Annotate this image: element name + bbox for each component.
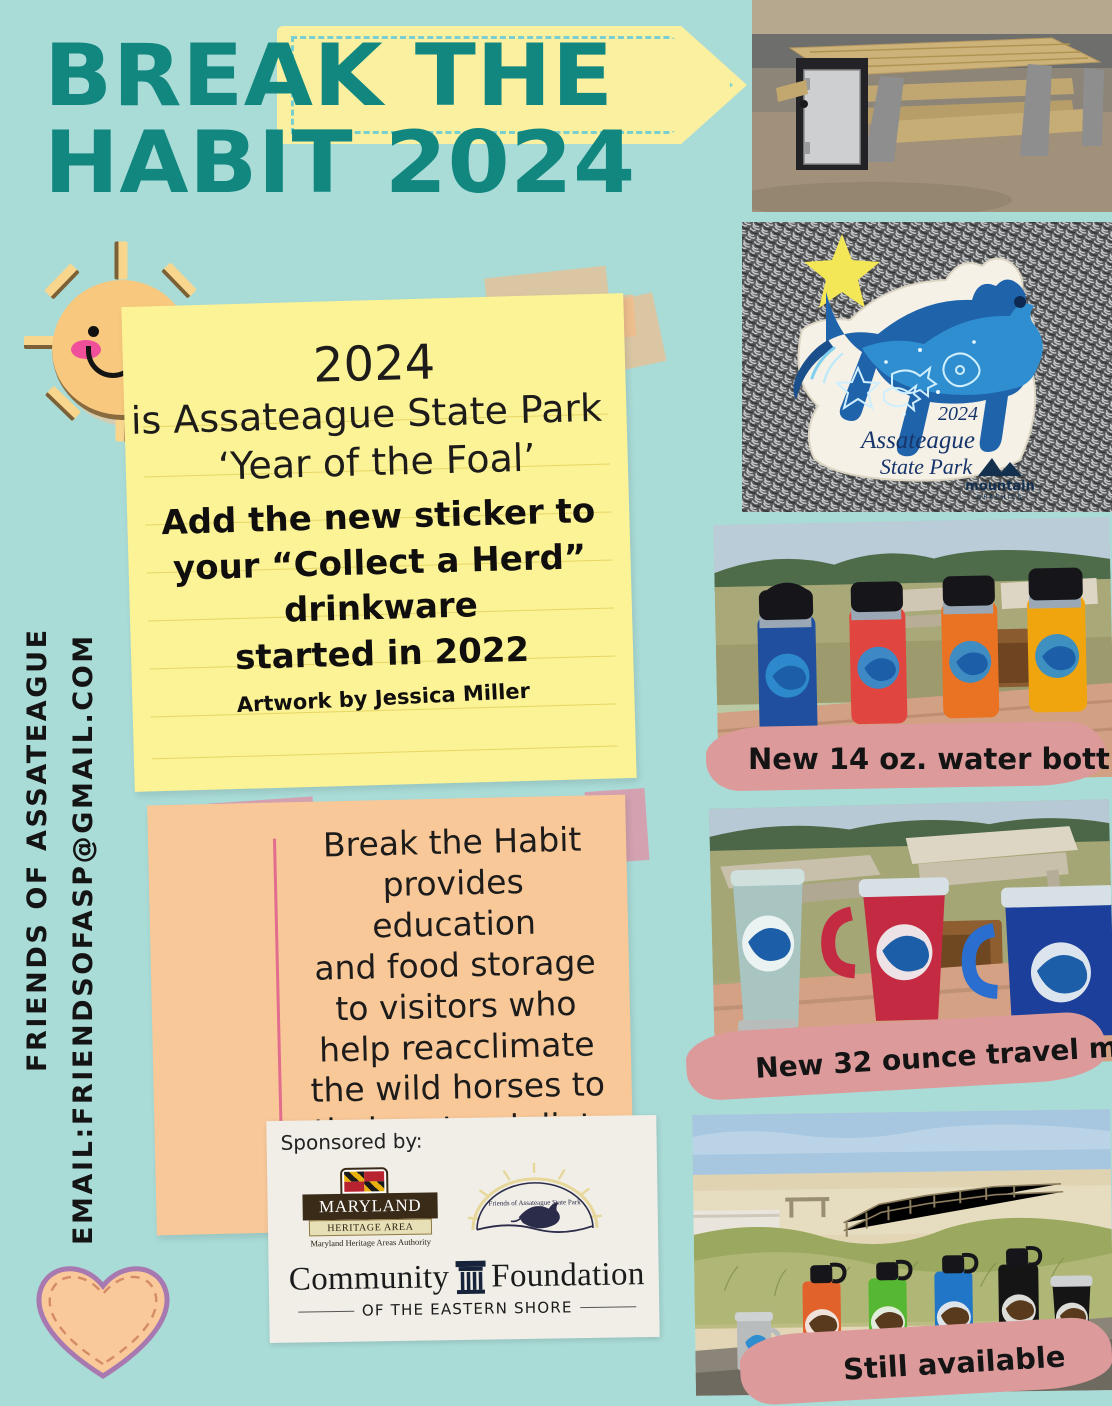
md-logo-sub: Maryland Heritage Areas Authority — [303, 1236, 438, 1248]
title-line-2: HABIT 2024 — [44, 121, 772, 206]
foal-sticker-photo: 2024 Assateague State Park mountain GRAP… — [742, 222, 1112, 512]
community-foundation-logo: Community Foundation OF THE EASTERN SHOR… — [286, 1255, 647, 1333]
sponsor-card: Sponsored by: MARYLAND HERITAGE AREA Mar… — [266, 1115, 659, 1343]
sticker-line-2: State Park — [880, 454, 973, 479]
orange-note-line: provides education — [299, 860, 609, 949]
poster-canvas: BREAK THE HABIT 2024 20 — [0, 0, 1112, 1393]
caption-water-bottles: New 14 oz. water bottles — [748, 742, 1112, 776]
yellow-note-content: 2024 is Assateague State Park ‘Year of t… — [121, 289, 636, 793]
picnic-table-food-storage-photo — [752, 0, 1112, 212]
email-side-text[interactable]: EMAIL:FRIENDSOFASP@GMAIL.COM — [68, 633, 99, 1245]
orange-note-line: to visitors who — [301, 983, 610, 1031]
maryland-heritage-area-logo: MARYLAND HERITAGE AREA Maryland Heritage… — [302, 1166, 438, 1248]
cf-word-1: Community — [289, 1259, 450, 1299]
sticker-line-1: Assateague — [859, 427, 975, 454]
md-logo-title: MARYLAND — [319, 1196, 421, 1218]
organization-side-text: FRIENDS OF ASSATEAGUE — [22, 627, 53, 1072]
orange-note-line: help reacclimate — [302, 1024, 611, 1072]
heart-icon — [28, 1258, 178, 1383]
cf-sub-text: OF THE EASTERN SHORE — [362, 1298, 573, 1319]
orange-note-line: the wild horses to — [303, 1064, 612, 1112]
friends-of-assateague-logo: Friends of Assateague State Park — [462, 1162, 608, 1246]
md-logo-band: HERITAGE AREA — [327, 1221, 413, 1233]
note-theme-line: ‘Year of the Foal’ — [125, 433, 628, 491]
cf-word-2: Foundation — [491, 1256, 645, 1295]
fasp-arc-text: Friends of Assateague State Park — [488, 1198, 581, 1207]
orange-note-line: and food storage — [301, 942, 610, 990]
svg-text:GRAPHICS: GRAPHICS — [977, 494, 1024, 501]
artwork-credit: Artwork by Jessica Miller — [132, 674, 635, 722]
note-year: 2024 — [122, 333, 625, 395]
column-icon — [453, 1258, 488, 1297]
sponsored-by-label: Sponsored by: — [280, 1129, 422, 1155]
svg-text:mountain: mountain — [965, 479, 1035, 494]
orange-note-line: Break the Habit — [298, 819, 607, 867]
sticker-year: 2024 — [938, 403, 978, 425]
title-line-1: BREAK THE — [44, 34, 772, 119]
page-title: BREAK THE HABIT 2024 — [44, 34, 744, 206]
